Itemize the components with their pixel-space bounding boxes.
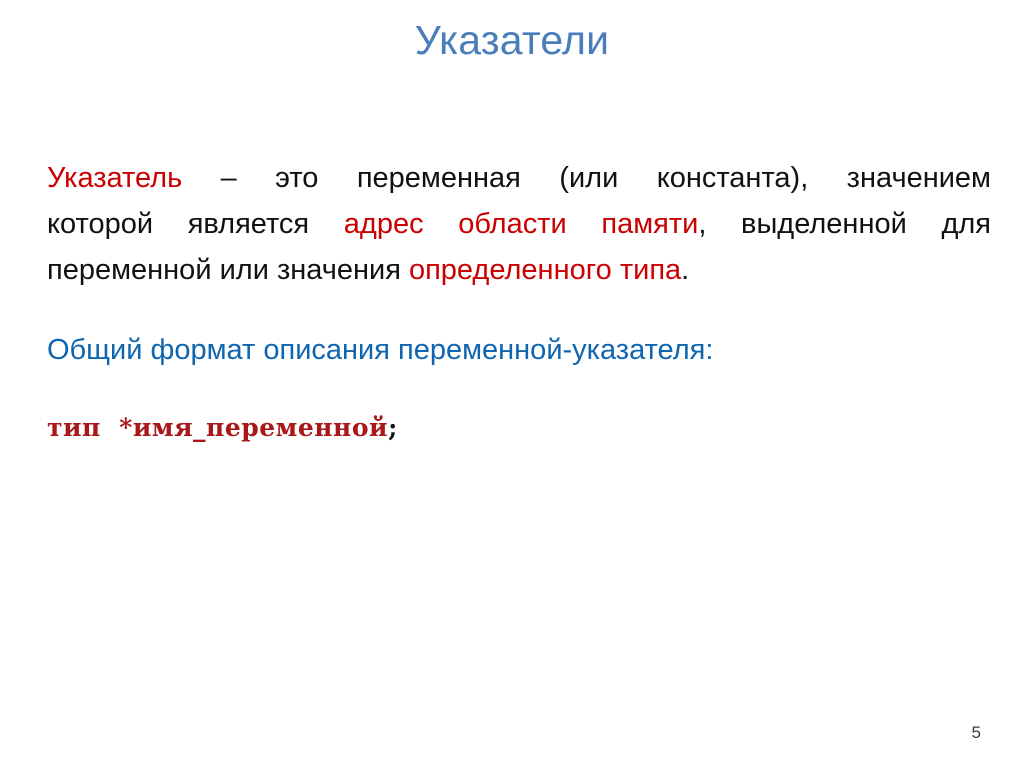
slide: Указатели Указатель – это переменная (ил… (0, 0, 1024, 767)
code-declaration-text: тип *имя_переменной (47, 413, 388, 442)
definition-line-3-before: переменной или значения (47, 254, 409, 286)
code-semicolon: ; (388, 413, 398, 442)
definition-line-1: Указатель – это переменная (или констант… (47, 155, 991, 201)
definition-line-3: переменной или значения определенного ти… (47, 247, 991, 293)
page-number: 5 (972, 723, 981, 743)
definition-line-2-after: , выделенной для (698, 208, 991, 240)
definition-line-3-after: . (681, 254, 689, 286)
page-title: Указатели (0, 16, 1024, 65)
definition-highlight-type: определенного типа (409, 254, 681, 286)
definition-term: Указатель (47, 162, 182, 194)
definition-line-2: которой является адрес области памяти, в… (47, 201, 991, 247)
definition-highlight-address: адрес области памяти (344, 208, 699, 240)
format-heading: Общий формат описания переменной-указате… (47, 293, 991, 371)
definition-line-2-before: которой является (47, 208, 344, 240)
definition-line-1-rest: – это переменная (или константа), значен… (182, 162, 991, 194)
slide-content: Указатель – это переменная (или констант… (47, 155, 991, 445)
code-declaration: тип *имя_переменной; (47, 371, 991, 445)
definition-paragraph: Указатель – это переменная (или констант… (47, 155, 991, 293)
